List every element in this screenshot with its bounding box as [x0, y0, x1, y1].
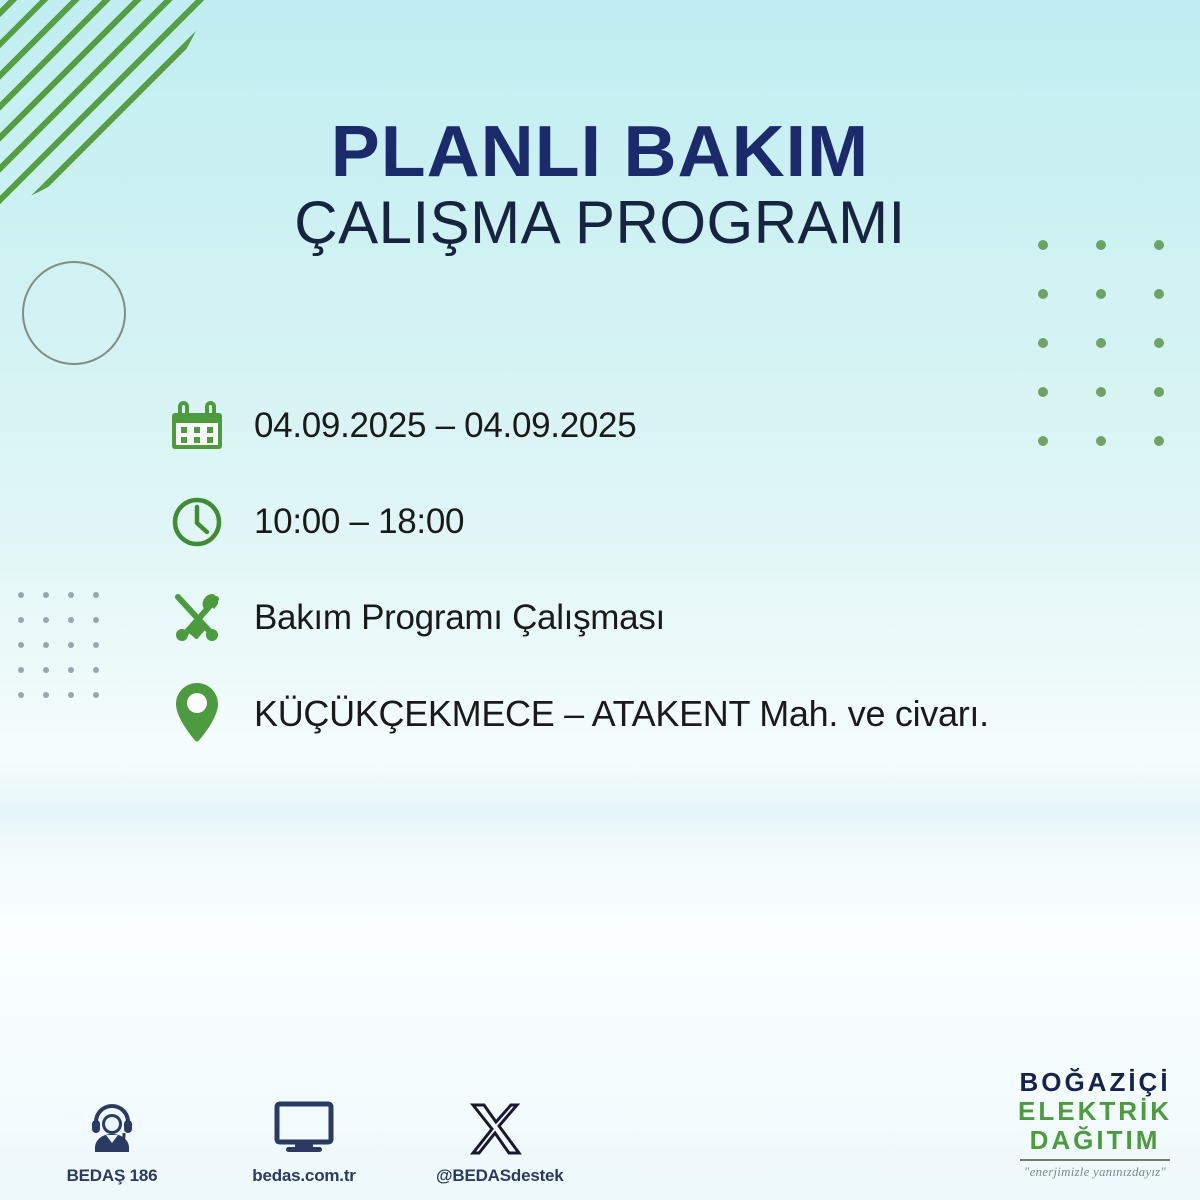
grid-dot — [43, 617, 49, 623]
info-row-date: 04.09.2025 – 04.09.2025 — [166, 378, 1066, 474]
grid-dot — [18, 592, 24, 598]
grid-dot — [18, 642, 24, 648]
grid-dot — [93, 692, 99, 698]
grid-dot — [68, 592, 74, 598]
grid-dot — [1096, 289, 1106, 299]
grid-dot — [1096, 436, 1106, 446]
grid-dot — [93, 667, 99, 673]
footer-label-website: bedas.com.tr — [244, 1166, 364, 1186]
page-title: PLANLI BAKIM — [0, 118, 1200, 187]
grid-dot — [1154, 338, 1164, 348]
logo-line-elektrik: ELEKTRİK — [1018, 1098, 1172, 1124]
grid-dot — [18, 667, 24, 673]
grid-dot — [43, 667, 49, 673]
grid-dot — [1154, 436, 1164, 446]
bedas-logo: BOĞAZİÇİ ELEKTRİK DAĞITIM "enerjimizle y… — [1018, 1069, 1172, 1178]
info-row-date-text: 04.09.2025 – 04.09.2025 — [254, 406, 636, 446]
info-row-location: KÜÇÜKÇEKMECE – ATAKENT Mah. ve civarı. — [166, 666, 1066, 762]
logo-line-bogazici: BOĞAZİÇİ — [1018, 1069, 1172, 1095]
grid-dot — [93, 592, 99, 598]
footer-item-call-center[interactable]: BEDAŞ 186 — [52, 1092, 172, 1186]
grid-dot — [43, 642, 49, 648]
calendar-icon — [166, 395, 228, 457]
location-pin-icon — [166, 683, 228, 745]
footer-label-x-account: @BEDASdestek — [436, 1166, 556, 1186]
clock-icon — [166, 491, 228, 553]
tools-icon — [166, 587, 228, 649]
grid-dot — [93, 642, 99, 648]
grid-dot — [93, 617, 99, 623]
page-subtitle: ÇALIŞMA PROGRAMI — [0, 193, 1200, 253]
info-row-work-text: Bakım Programı Çalışması — [254, 598, 665, 638]
info-row-time-text: 10:00 – 18:00 — [254, 502, 464, 542]
footer-item-website[interactable]: bedas.com.tr — [244, 1092, 364, 1186]
grid-dot — [18, 692, 24, 698]
circle-outline-decoration — [22, 261, 126, 365]
info-list: 04.09.2025 – 04.09.2025 10:00 – 18:00 — [166, 378, 1066, 762]
info-row-work: Bakım Programı Çalışması — [166, 570, 1066, 666]
grid-dot — [18, 617, 24, 623]
logo-line-dagitim: DAĞITIM — [1018, 1127, 1172, 1153]
grid-dot — [1038, 289, 1048, 299]
grid-dot — [68, 667, 74, 673]
grid-dot — [1038, 338, 1048, 348]
page-title-block: PLANLI BAKIM ÇALIŞMA PROGRAMI — [0, 118, 1200, 253]
dot-grid-left-decoration — [18, 592, 118, 717]
x-twitter-icon — [436, 1092, 556, 1156]
grid-dot — [1096, 387, 1106, 397]
grid-dot — [1154, 387, 1164, 397]
grid-dot — [1154, 289, 1164, 299]
footer-contact-strip: BEDAŞ 186 bedas.com.tr @BEDASdestek — [52, 1092, 556, 1186]
monitor-icon — [244, 1092, 364, 1156]
footer-item-x-account[interactable]: @BEDASdestek — [436, 1092, 556, 1186]
logo-tagline: "enerjimizle yanınızdayız" — [1018, 1165, 1172, 1178]
info-row-time: 10:00 – 18:00 — [166, 474, 1066, 570]
grid-dot — [43, 592, 49, 598]
logo-divider — [1020, 1159, 1170, 1161]
grid-dot — [68, 692, 74, 698]
grid-dot — [68, 617, 74, 623]
grid-dot — [1096, 338, 1106, 348]
footer-label-call-center: BEDAŞ 186 — [52, 1166, 172, 1186]
info-row-location-text: KÜÇÜKÇEKMECE – ATAKENT Mah. ve civarı. — [254, 693, 989, 735]
grid-dot — [68, 642, 74, 648]
grid-dot — [43, 692, 49, 698]
poster-canvas: PLANLI BAKIM ÇALIŞMA PROGRAMI — [0, 0, 1200, 1200]
call-center-agent-icon — [52, 1092, 172, 1156]
